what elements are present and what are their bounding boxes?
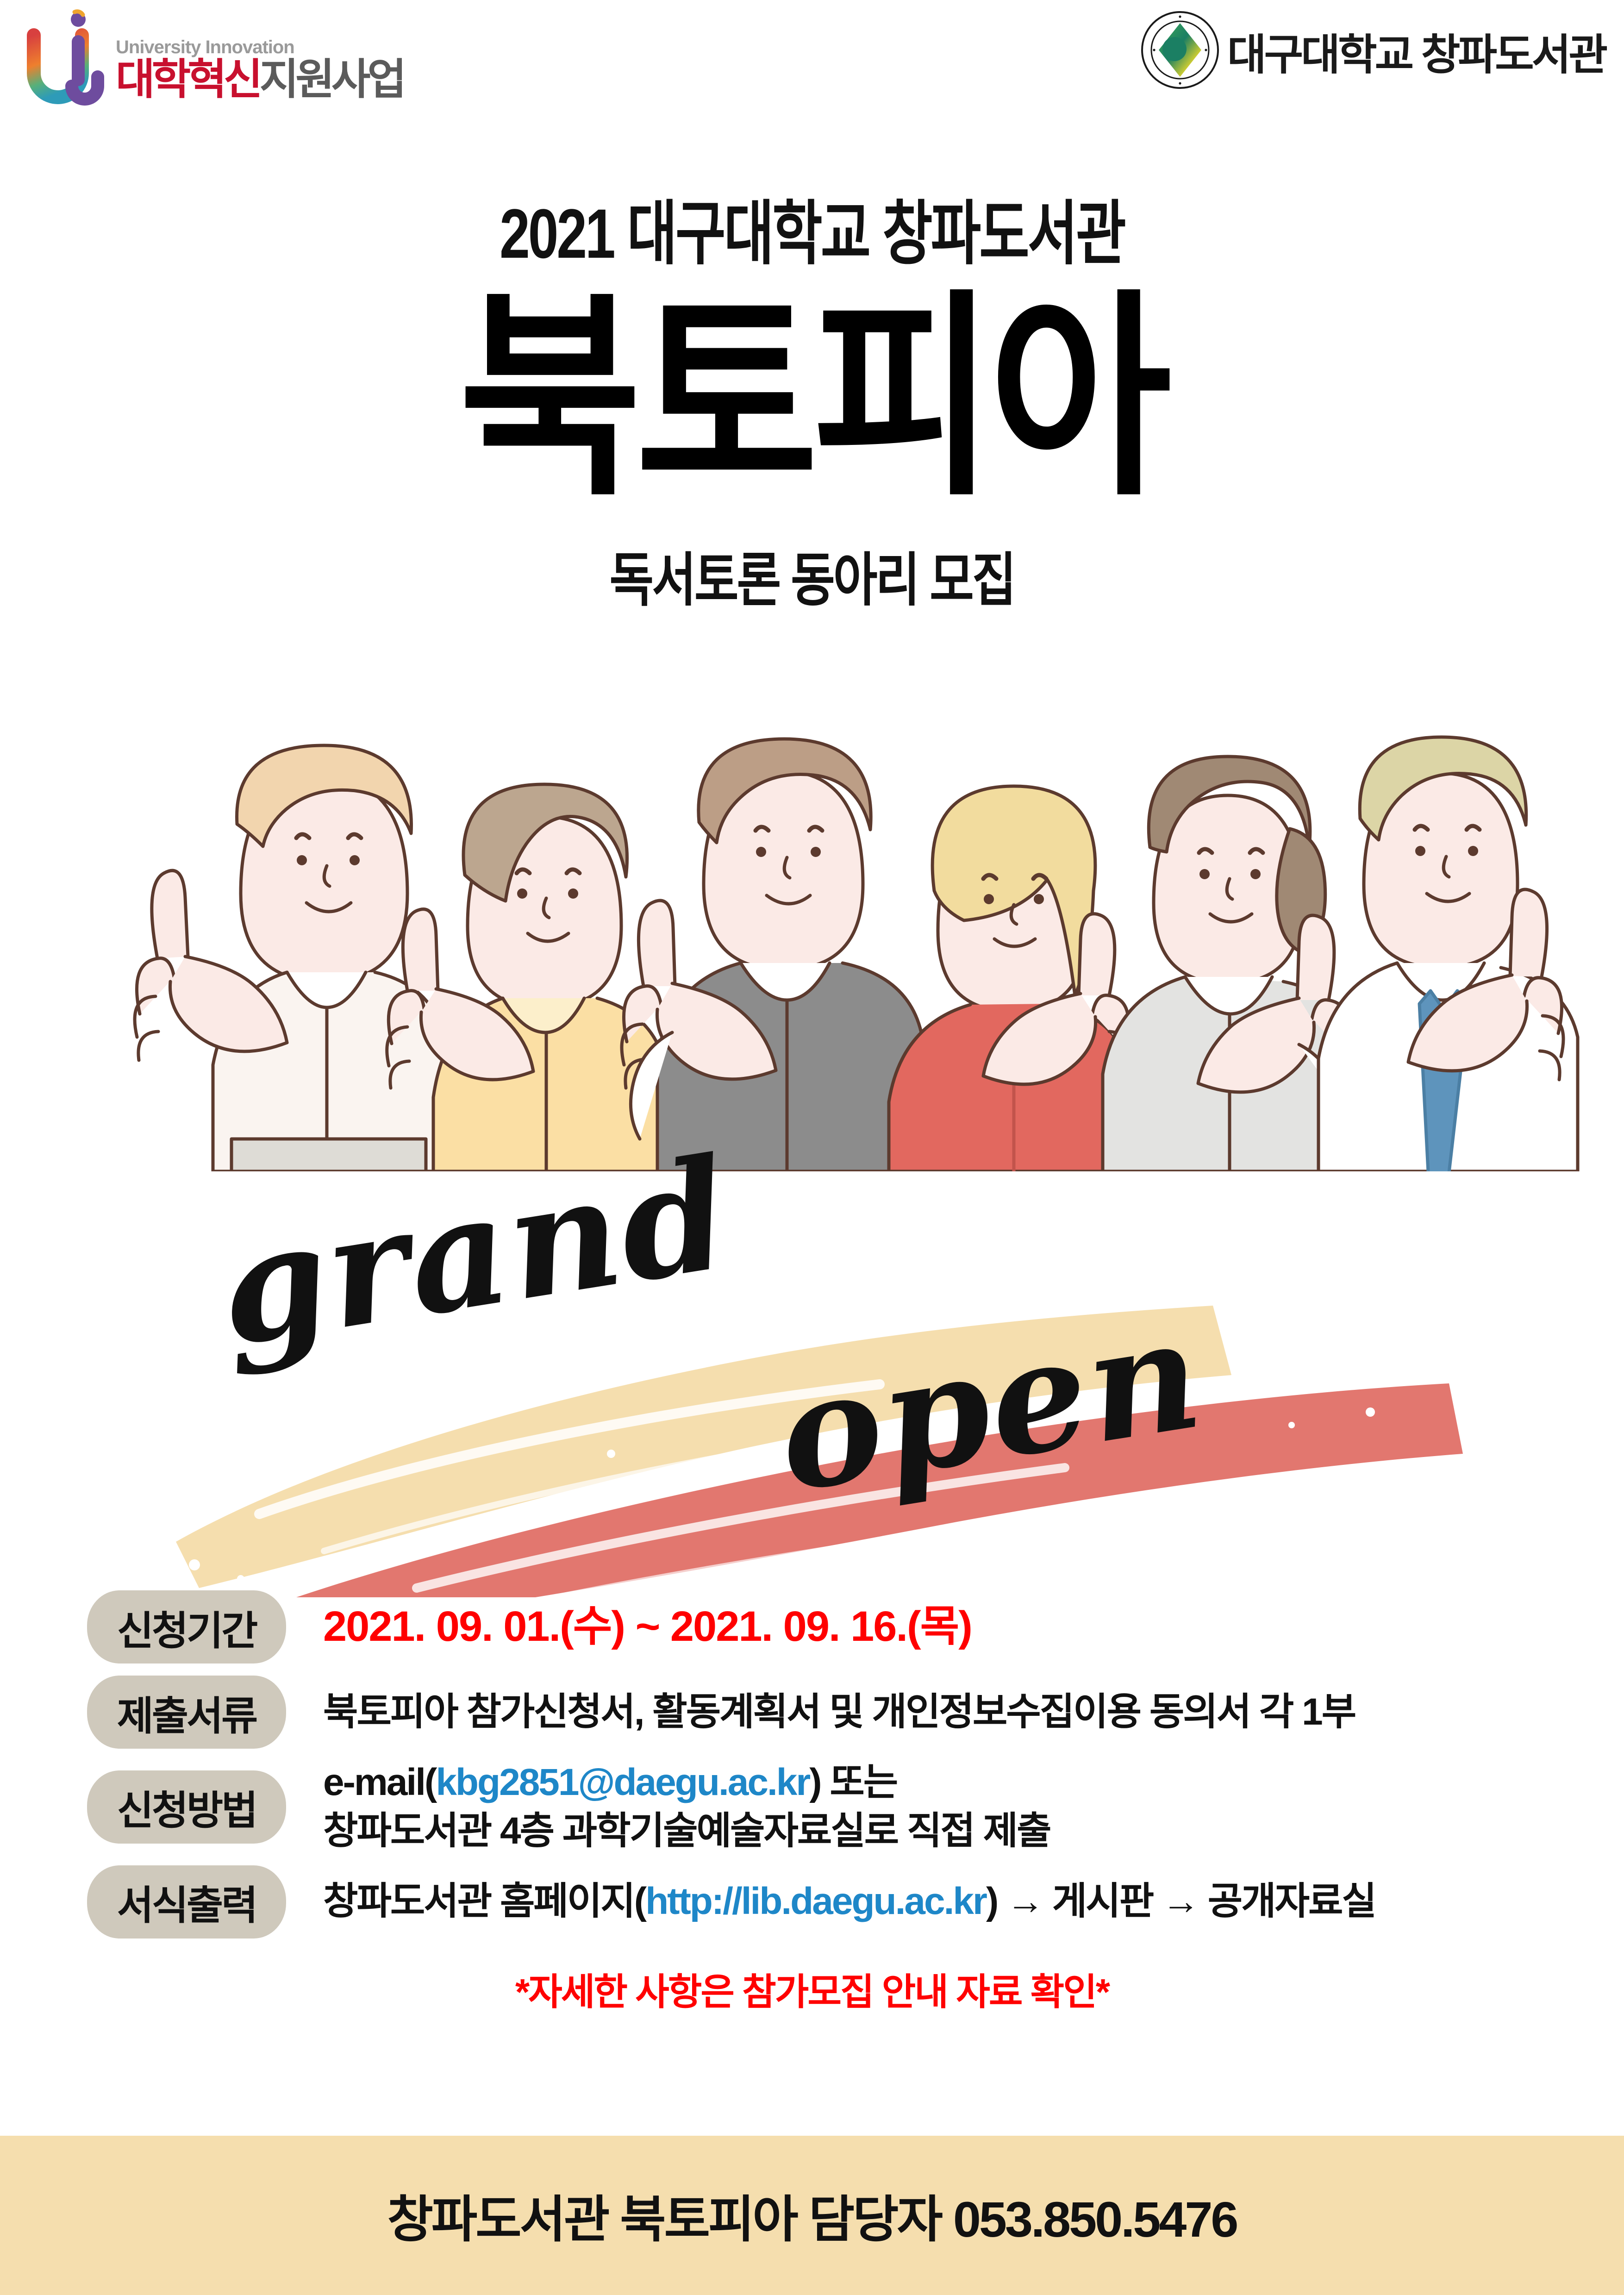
person-man-blue-tie bbox=[1318, 737, 1578, 1171]
contact-footer-text: 창파도서관 북토피아 담당자 053.850.5476 bbox=[387, 2179, 1237, 2251]
page-title: 북토피아 bbox=[0, 294, 1624, 504]
person-man-white-shirt bbox=[135, 745, 444, 1171]
poster-subtitle: 독서토론 동아리 모집 bbox=[0, 533, 1624, 617]
documents-line: 북토피아 참가신청서, 활동계획서 및 개인정보수집이용 동의서 각 1부 bbox=[323, 1688, 1355, 1737]
grand-open-brush-block: grand open bbox=[0, 1134, 1624, 1597]
library-name-label: 대구대학교 창파도서관 bbox=[1227, 20, 1605, 82]
six-people-thumbs-up-illustration bbox=[0, 607, 1624, 1171]
application-period-line: 2021. 09. 01.(수) ~ 2021. 09. 16.(목) bbox=[323, 1600, 972, 1654]
ui-logo-korean-red: 대학혁신 bbox=[116, 56, 260, 103]
detail-note: *자세한 사항은 참가모집 안내 자료 확인* bbox=[0, 1962, 1624, 2016]
email-prefix: e-mail( bbox=[323, 1761, 436, 1803]
ui-logo-korean-gray: 지원사업 bbox=[260, 56, 404, 103]
daegu-library-logo: 대구대학교 창파도서관 bbox=[1140, 10, 1605, 92]
label-how-to-apply: 신청방법 bbox=[87, 1770, 286, 1844]
label-form-download: 서식출력 bbox=[87, 1865, 286, 1939]
value-how-to-apply: e-mail(kbg2851@daegu.ac.kr) 또는 창파도서관 4층 … bbox=[323, 1758, 1050, 1856]
label-application-period: 신청기간 bbox=[87, 1590, 286, 1663]
university-innovation-logo: University Innovation 대학혁신지원사업 bbox=[25, 8, 403, 106]
label-documents: 제출서류 bbox=[87, 1676, 286, 1749]
value-documents: 북토피아 참가신청서, 활동계획서 및 개인정보수집이용 동의서 각 1부 bbox=[323, 1688, 1355, 1737]
person-man-gray-jacket bbox=[622, 739, 921, 1171]
email-suffix: ) 또는 bbox=[809, 1761, 897, 1803]
how-to-apply-line-1: e-mail(kbg2851@daegu.ac.kr) 또는 bbox=[323, 1758, 1050, 1807]
value-form-download: 창파도서관 홈페이지(http://lib.daegu.ac.kr) → 게시판… bbox=[323, 1877, 1375, 1926]
poster-eyebrow: 2021 대구대학교 창파도서관 bbox=[0, 199, 1624, 269]
info-row-form-download: 서식출력 창파도서관 홈페이지(http://lib.daegu.ac.kr) … bbox=[0, 1863, 1624, 1941]
contact-footer: 창파도서관 북토피아 담당자 053.850.5476 bbox=[0, 2136, 1624, 2295]
poster-header: University Innovation 대학혁신지원사업 bbox=[0, 0, 1624, 125]
how-to-apply-line-2: 창파도서관 4층 과학기술예술자료실로 직접 제출 bbox=[323, 1807, 1050, 1856]
homepage-prefix: 창파도서관 홈페이지( bbox=[323, 1880, 645, 1922]
person-woman-red-sweater bbox=[889, 786, 1130, 1171]
info-row-application-period: 신청기간 2021. 09. 01.(수) ~ 2021. 09. 16.(목) bbox=[0, 1588, 1624, 1666]
info-row-documents: 제출서류 북토피아 참가신청서, 활동계획서 및 개인정보수집이용 동의서 각 … bbox=[0, 1673, 1624, 1751]
library-homepage-link[interactable]: http://lib.daegu.ac.kr bbox=[645, 1880, 986, 1922]
value-application-period: 2021. 09. 01.(수) ~ 2021. 09. 16.(목) bbox=[323, 1600, 972, 1654]
info-row-how-to-apply: 신청방법 e-mail(kbg2851@daegu.ac.kr) 또는 창파도서… bbox=[0, 1758, 1624, 1856]
form-download-line: 창파도서관 홈페이지(http://lib.daegu.ac.kr) → 게시판… bbox=[323, 1877, 1375, 1926]
daegu-university-seal-icon bbox=[1140, 10, 1220, 92]
title-block: 2021 대구대학교 창파도서관 북토피아 독서토론 동아리 모집 bbox=[0, 199, 1624, 603]
uj-logo-icon bbox=[25, 8, 111, 106]
info-section: 신청기간 2021. 09. 01.(수) ~ 2021. 09. 16.(목)… bbox=[0, 1588, 1624, 2016]
ui-logo-english: University Innovation bbox=[116, 38, 403, 56]
email-link[interactable]: kbg2851@daegu.ac.kr bbox=[436, 1761, 809, 1803]
homepage-path: ) → 게시판 → 공개자료실 bbox=[986, 1880, 1375, 1922]
